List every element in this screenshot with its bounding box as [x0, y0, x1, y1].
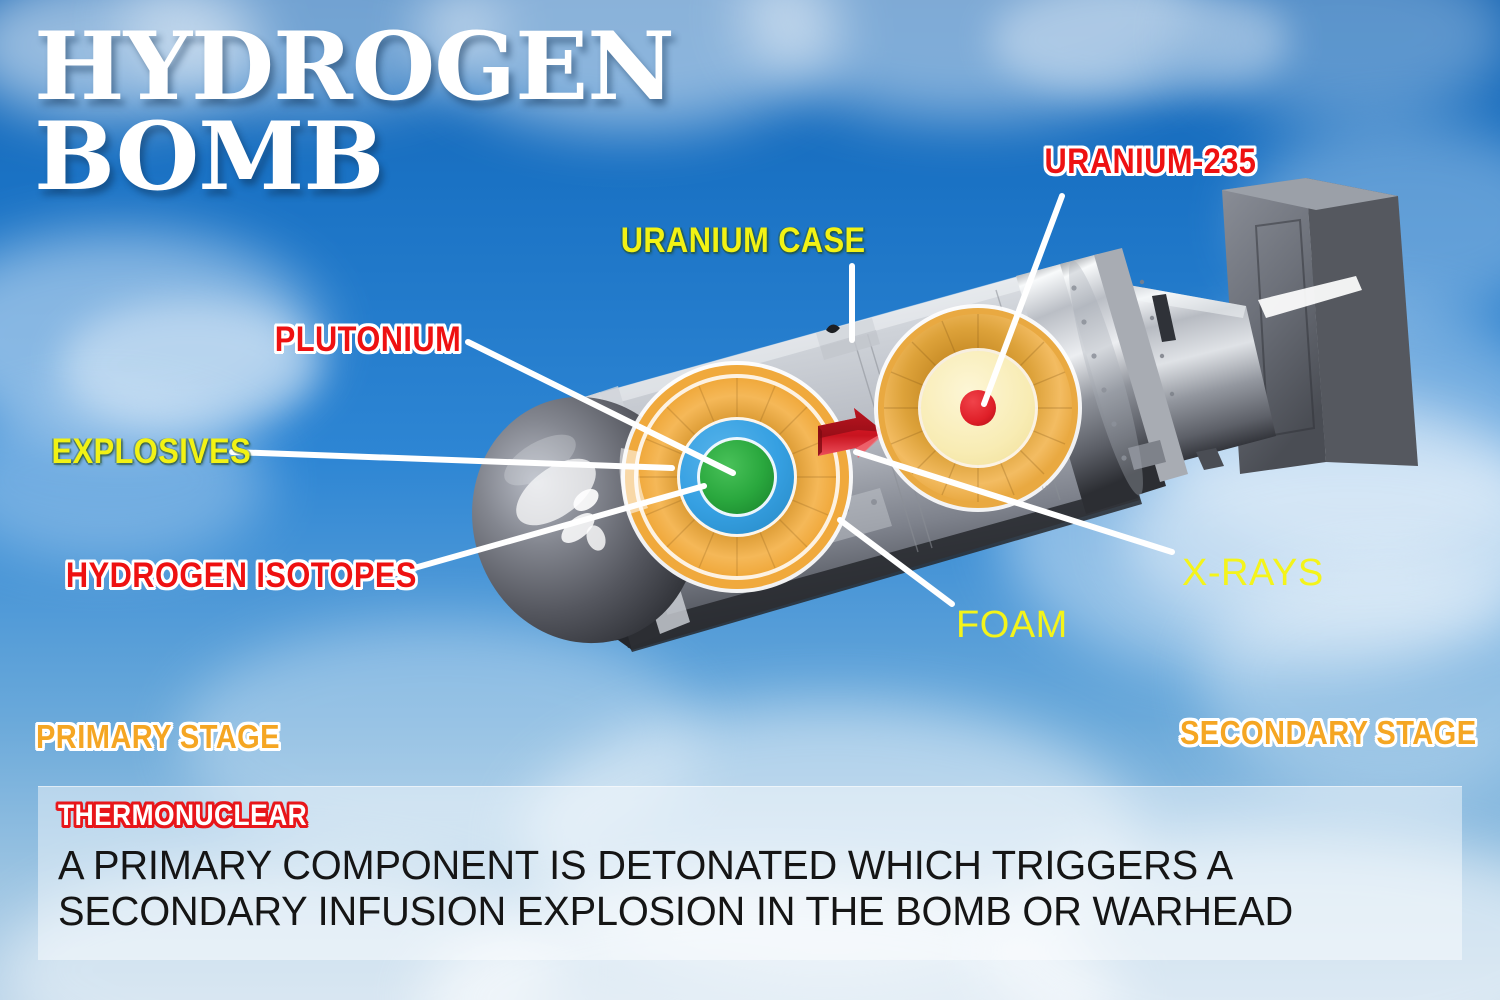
callout-x-rays: X-RAYS: [1182, 552, 1324, 595]
callout-uranium-235: URANIUM-235: [1044, 142, 1256, 182]
description-panel: THERMONUCLEAR A PRIMARY COMPONENT IS DET…: [38, 786, 1462, 960]
callout-hydrogen-isotopes: HYDROGEN ISOTOPES: [66, 556, 417, 596]
label-primary-stage: PRIMARY STAGE: [36, 718, 280, 756]
callout-uranium-case: URANIUM CASE: [621, 221, 866, 261]
callout-foam: FOAM: [956, 604, 1068, 647]
description-text: A PRIMARY COMPONENT IS DETONATED WHICH T…: [58, 843, 1406, 935]
page-title: HYDROGEN BOMB: [34, 22, 674, 202]
callout-explosives: EXPLOSIVES: [52, 432, 252, 472]
thermonuclear-kicker: THERMONUCLEAR: [58, 799, 307, 833]
callout-plutonium: PLUTONIUM: [275, 320, 461, 360]
label-secondary-stage: SECONDARY STAGE: [1180, 714, 1477, 752]
infographic-canvas: HYDROGEN BOMB: [0, 0, 1500, 1000]
